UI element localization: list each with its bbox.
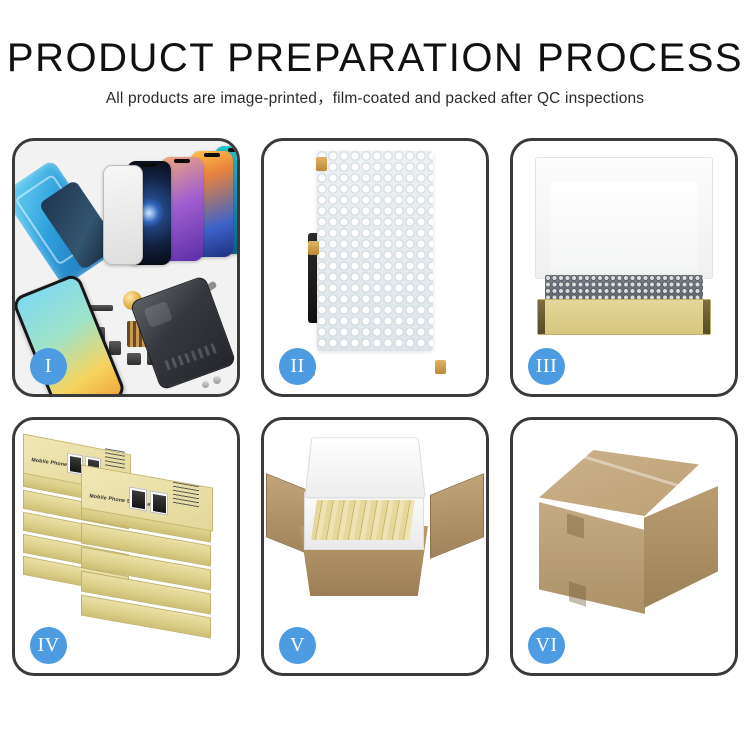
bubble-wrap-icon: [545, 275, 703, 301]
step-badge-2: II: [279, 348, 316, 385]
process-step-panel-2[interactable]: II: [261, 138, 489, 397]
foam-lid-icon: [304, 437, 426, 498]
product-preparation-infographic: PRODUCT PREPARATION PROCESS All products…: [0, 0, 750, 750]
foam-sheet-icon: [547, 181, 701, 279]
step-badge-6: VI: [528, 627, 565, 664]
spare-part-icon: [109, 341, 121, 355]
screw-icon: [202, 381, 209, 388]
process-step-panel-4[interactable]: Mobile Phone Spare Parts Mobile Phone Sp…: [12, 417, 240, 676]
phone-chassis-icon: [129, 275, 236, 391]
notch-icon: [204, 153, 220, 157]
notch-icon: [174, 159, 190, 163]
box-spec-lines: [105, 448, 125, 470]
page-title: PRODUCT PREPARATION PROCESS: [0, 36, 750, 80]
step-badge-1: I: [30, 348, 67, 385]
notch-icon: [228, 148, 237, 152]
carton-tape-icon: [569, 581, 586, 607]
process-step-panel-5[interactable]: V: [261, 417, 489, 676]
packed-boxes-icon: [311, 500, 415, 540]
carton-front-icon: [539, 502, 645, 614]
tape-icon: [316, 157, 327, 171]
process-step-panel-6[interactable]: VI: [510, 417, 738, 676]
box-label-window: [129, 486, 147, 511]
page-subtitle: All products are image-printed，film-coat…: [0, 89, 750, 109]
screw-icon: [213, 376, 221, 384]
process-step-panel-1[interactable]: I: [12, 138, 240, 397]
step-badge-5: V: [279, 627, 316, 664]
step-badge-3: III: [528, 348, 565, 385]
kraft-box-base-icon: [537, 299, 711, 335]
tempered-glass-icon: [103, 165, 143, 265]
box-label-window: [150, 490, 168, 515]
carton-flap-right-icon: [430, 473, 484, 559]
process-step-panel-3[interactable]: III: [510, 138, 738, 397]
box-stack-icon: Mobile Phone Spare Parts Mobile Phone Sp…: [21, 438, 235, 628]
notch-icon: [141, 163, 157, 167]
tape-icon: [435, 360, 446, 374]
bubble-wrap-icon: [317, 151, 433, 351]
box-spec-lines: [173, 482, 199, 509]
spare-part-icon: [127, 353, 141, 365]
header: PRODUCT PREPARATION PROCESS All products…: [0, 36, 750, 109]
step-badge-4: IV: [30, 627, 67, 664]
tape-icon: [308, 241, 319, 255]
process-step-grid: I II III: [12, 138, 738, 676]
